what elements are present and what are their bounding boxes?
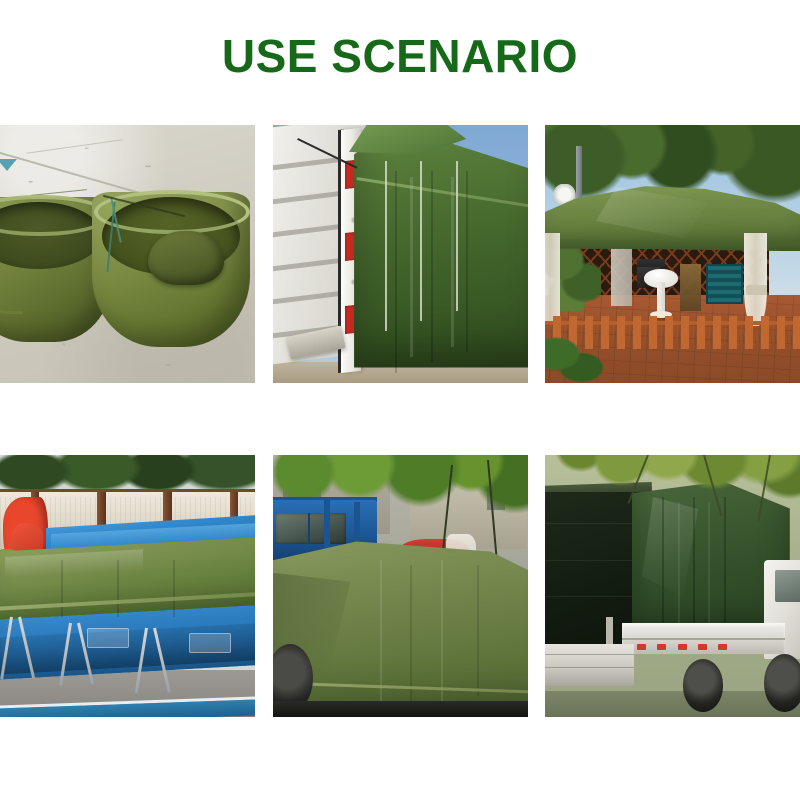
blue-marker-icon: [0, 159, 17, 171]
photo-swimming-pool-cover-image: [0, 455, 255, 717]
green-tarpaulin: [354, 125, 527, 368]
truck-bed-shadow: [273, 701, 528, 717]
truck-bed-line: [622, 638, 785, 640]
photo-garden-gazebo-image: [545, 125, 800, 383]
page-title: USE SCENARIO: [222, 33, 578, 79]
cargo-interior-line: [545, 560, 642, 561]
ground-shadow: [545, 691, 800, 717]
cargo-interior-line: [545, 596, 642, 597]
red-reflector: [637, 644, 646, 651]
drawstring-pouch: [148, 231, 225, 285]
photo-flatbed-truck-canopy-image: [545, 455, 800, 717]
pool-label: [87, 628, 130, 648]
red-reflector: [678, 644, 687, 651]
side-panel-slat: [545, 667, 634, 668]
tarp-crease-dark: [477, 565, 479, 696]
page-header: USE SCENARIO: [0, 0, 800, 112]
photo-blue-truck-tarp[interactable]: [273, 455, 528, 717]
cab-window: [775, 570, 800, 601]
bucket-left-handle: [0, 285, 23, 314]
photo-swimming-pool-cover[interactable]: [0, 455, 255, 717]
foreground-bush: [545, 331, 604, 383]
photo-blue-truck-tarp-image: [273, 455, 528, 717]
photo-canvas-buckets[interactable]: [0, 125, 255, 383]
pool-label: [189, 633, 232, 653]
tarp-highlight: [451, 177, 454, 347]
photo-grid: [0, 125, 800, 717]
truck-wheel-rear: [683, 659, 724, 711]
photo-canvas-buckets-image: [0, 125, 255, 383]
photo-truck-trailer-tarp[interactable]: [273, 125, 528, 383]
tie-down-rope: [456, 161, 458, 311]
tarp-fold: [466, 171, 468, 352]
window-divider: [308, 513, 310, 544]
cab-rear-window: [275, 513, 346, 544]
red-reflector: [698, 644, 707, 651]
tarp-crease-dark: [410, 565, 412, 701]
patio-chair-right: [680, 264, 700, 310]
white-curtain-right: [744, 233, 767, 326]
photo-flatbed-truck-canopy[interactable]: [545, 455, 800, 717]
curtain-tieback: [746, 285, 766, 295]
teal-crate: [706, 264, 743, 304]
red-reflector: [718, 644, 727, 651]
red-reflector: [657, 644, 666, 651]
tarp-crease-light: [441, 560, 443, 701]
tarp-fold: [173, 560, 175, 618]
tarp-highlight: [410, 177, 413, 358]
tarp-fold: [117, 560, 119, 618]
lower-side-panel: [545, 644, 634, 686]
tarp-fold: [431, 171, 433, 362]
photo-garden-gazebo[interactable]: [545, 125, 800, 383]
truck-wheel-front: [764, 654, 800, 712]
white-curtain-left: [545, 233, 560, 321]
tarp-fold: [61, 560, 63, 618]
tarp-fold: [395, 171, 397, 372]
tie-down-rope: [420, 161, 422, 321]
photo-truck-trailer-tarp-image: [273, 125, 528, 383]
tie-down-rope: [385, 161, 387, 331]
use-scenario-page: USE SCENARIO: [0, 0, 800, 800]
side-panel-slat: [545, 654, 634, 655]
